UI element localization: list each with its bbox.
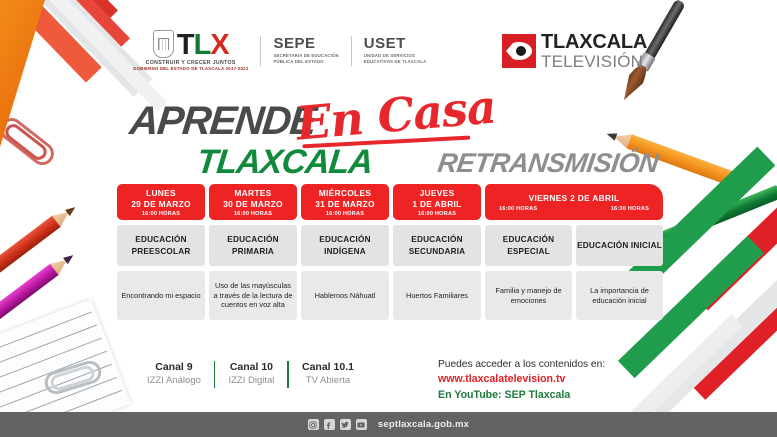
level-label-2: EDUCACIÓN INDÍGENA <box>301 234 389 256</box>
topic-row: Encontrando mi espacio Uso de las mayúsc… <box>117 271 663 320</box>
topic-cell-4: Familia y manejo de emociones <box>485 271 572 320</box>
level-label-3: EDUCACIÓN SECUNDARIA <box>393 234 481 256</box>
level-label-4: EDUCACIÓN ESPECIAL <box>485 234 572 256</box>
access-info: Puedes acceder a los contenidos en: www.… <box>438 357 605 404</box>
channel-item-2: Canal 10.1 TV Abierta <box>289 360 367 388</box>
logo-divider-1 <box>260 36 261 66</box>
pencil-magenta-decoration <box>0 248 79 349</box>
poster-canvas: TLX CONSTRUIR Y CRECER JUNTOS GOBIERNO D… <box>0 0 777 437</box>
channel-item-1: Canal 10 IZZI Digital <box>215 360 287 388</box>
instagram-icon[interactable] <box>308 419 319 430</box>
level-label-1: EDUCACIÓN PRIMARIA <box>209 234 297 256</box>
tlx-logo: TLX CONSTRUIR Y CRECER JUNTOS GOBIERNO D… <box>133 30 248 71</box>
footer-bar: septlaxcala.gob.mx <box>0 412 777 437</box>
topic-label-4: Familia y manejo de emociones <box>489 286 568 306</box>
footer-url[interactable]: septlaxcala.gob.mx <box>378 419 469 430</box>
day-time-4-1: 16:30 HORAS <box>611 206 649 212</box>
day-header-miercoles: MIÉRCOLES31 DE MARZO 16:00 HORAS <box>301 184 389 220</box>
level-cell-preescolar: EDUCACIÓN PREESCOLAR <box>117 225 205 266</box>
day-time-1-0: 16:00 HORAS <box>234 211 272 217</box>
level-label-0: EDUCACIÓN PREESCOLAR <box>117 234 205 256</box>
sepe-logo: SEPE SECRETARÍA DE EDUCACIÓN PÚBLICA DEL… <box>273 36 338 65</box>
sepe-sub2: PÚBLICA DEL ESTADO <box>273 59 338 65</box>
title-tlaxcala: TLAXCALA <box>195 143 374 182</box>
topic-cell-1: Uso de las mayúsculas a través de la lec… <box>209 271 297 320</box>
day-date-2: 31 DE MARZO <box>315 199 375 209</box>
tlx-wordmark: TLX <box>177 34 229 58</box>
title-en-casa: En Casa <box>294 79 498 150</box>
day-header-jueves: JUEVES1 DE ABRIL 16:00 HORAS <box>393 184 481 220</box>
day-time-3-0: 16:00 HORAS <box>418 211 456 217</box>
tlx-letter-x: X <box>210 29 228 61</box>
tlaxcala-shield-icon <box>153 30 174 58</box>
tlaxcala-television-logo: TLAXCALA TELEVISIÓN <box>502 32 647 70</box>
tlx-letter-t: T <box>177 29 194 61</box>
day-name-3: JUEVES <box>420 188 455 198</box>
level-cell-indigena: EDUCACIÓN INDÍGENA <box>301 225 389 266</box>
level-row: EDUCACIÓN PREESCOLAR EDUCACIÓN PRIMARIA … <box>117 225 663 266</box>
channel-provider-1: IZZI Digital <box>228 375 274 388</box>
youtube-icon[interactable] <box>356 419 367 430</box>
title-aprende: APRENDE <box>128 99 318 144</box>
day-date-1: 30 DE MARZO <box>223 199 283 209</box>
channel-provider-2: TV Abierta <box>302 375 354 388</box>
tv-eye-icon <box>502 34 536 68</box>
topic-cell-2: Hablemos Náhuatl <box>301 271 389 320</box>
topic-label-5: La importancia de educación inicial <box>580 286 659 306</box>
uset-sub2: EDUCATIVOS DE TLAXCALA <box>364 59 427 65</box>
topic-label-1: Uso de las mayúsculas a través de la lec… <box>213 281 293 311</box>
pencil-red-decoration <box>0 200 81 301</box>
tlx-letter-l: L <box>194 29 211 61</box>
channel-number-2: Canal 10.1 <box>302 360 354 375</box>
day-name-2: MIÉRCOLES <box>319 188 372 198</box>
tlx-subline: GOBIERNO DEL ESTADO DE TLAXCALA 2017-202… <box>133 66 248 71</box>
access-youtube[interactable]: En YouTube: SEP Tlaxcala <box>438 388 605 404</box>
logo-divider-2 <box>351 36 352 66</box>
topic-cell-3: Huertos Familiares <box>393 271 481 320</box>
day-header-row: LUNES29 DE MARZO 16:00 HORAS MARTES30 DE… <box>117 184 663 220</box>
tv-logo-name: TLAXCALA <box>541 32 647 52</box>
day-time-2-0: 16:00 HORAS <box>326 211 364 217</box>
schedule-table: LUNES29 DE MARZO 16:00 HORAS MARTES30 DE… <box>117 184 663 320</box>
twitter-icon[interactable] <box>340 419 351 430</box>
tv-logo-sub: TELEVISIÓN <box>541 53 647 70</box>
uset-logo: USET UNIDAD DE SERVICIOS EDUCATIVOS DE T… <box>364 36 427 65</box>
uset-title: USET <box>364 36 427 51</box>
channel-item-0: Canal 9 IZZI Análogo <box>134 360 214 388</box>
access-website[interactable]: www.tlaxcalatelevision.tv <box>438 372 605 388</box>
channel-provider-0: IZZI Análogo <box>147 375 201 388</box>
day-name-1: MARTES <box>234 188 271 198</box>
channel-list: Canal 9 IZZI Análogo Canal 10 IZZI Digit… <box>134 360 367 388</box>
day-date-0: 29 DE MARZO <box>131 199 191 209</box>
day-name-0: LUNES <box>146 188 176 198</box>
title-retransmision: RETRANSMISIÓN <box>436 148 660 179</box>
access-intro: Puedes acceder a los contenidos en: <box>438 357 605 372</box>
level-label-5: EDUCACIÓN INICIAL <box>577 240 662 251</box>
day-name-4: VIERNES 2 DE ABRIL <box>529 193 620 203</box>
level-cell-inicial: EDUCACIÓN INICIAL <box>576 225 663 266</box>
channel-number-1: Canal 10 <box>228 360 274 375</box>
topic-label-2: Hablemos Náhuatl <box>315 291 376 301</box>
channel-number-0: Canal 9 <box>147 360 201 375</box>
day-header-lunes: LUNES29 DE MARZO 16:00 HORAS <box>117 184 205 220</box>
day-time-4-0: 16:00 HORAS <box>499 206 537 212</box>
topic-cell-0: Encontrando mi espacio <box>117 271 205 320</box>
day-header-viernes: VIERNES 2 DE ABRIL 16:00 HORAS 16:30 HOR… <box>485 184 663 220</box>
topic-cell-5: La importancia de educación inicial <box>576 271 663 320</box>
day-header-martes: MARTES30 DE MARZO 16:00 HORAS <box>209 184 297 220</box>
day-date-3: 1 DE ABRIL <box>412 199 461 209</box>
facebook-icon[interactable] <box>324 419 335 430</box>
level-cell-secundaria: EDUCACIÓN SECUNDARIA <box>393 225 481 266</box>
topic-label-0: Encontrando mi espacio <box>121 291 200 301</box>
topic-label-3: Huertos Familiares <box>406 291 468 301</box>
day-time-0-0: 16:00 HORAS <box>142 211 180 217</box>
level-cell-especial: EDUCACIÓN ESPECIAL <box>485 225 572 266</box>
sepe-title: SEPE <box>273 36 338 51</box>
level-cell-primaria: EDUCACIÓN PRIMARIA <box>209 225 297 266</box>
government-logos: TLX CONSTRUIR Y CRECER JUNTOS GOBIERNO D… <box>133 30 426 71</box>
